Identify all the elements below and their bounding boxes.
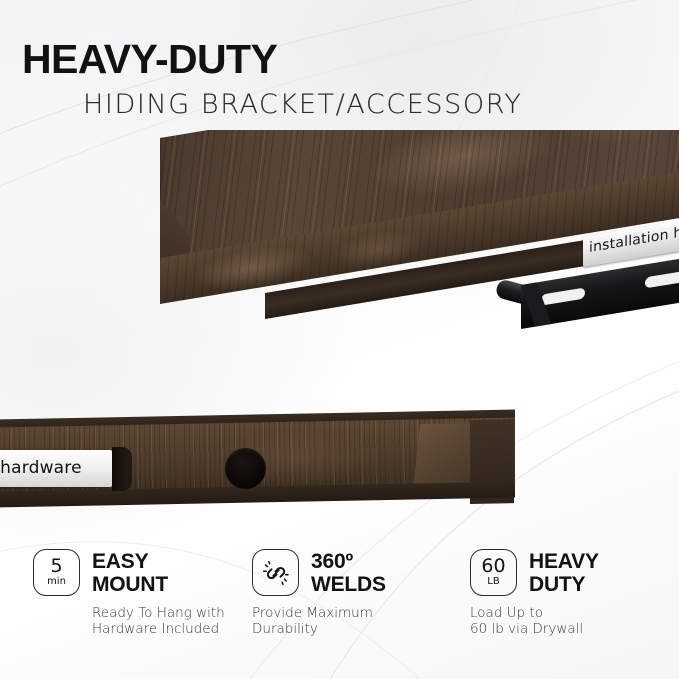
badge-unit: LB [487, 576, 499, 588]
feature-text: EASY MOUNT Ready To Hang with Hardware I… [92, 549, 225, 637]
bracket-slot [541, 287, 585, 305]
label-bottom-text: ion hardware [0, 458, 82, 478]
badge-unit: min [47, 576, 66, 588]
feature-description: Provide Maximum Durability [252, 605, 386, 637]
timer-badge-icon: 5 min [33, 549, 80, 596]
headline-block: HEAVY-DUTY HIDING BRACKET/ACCESSORY [0, 36, 679, 121]
product-marketing-image: HEAVY-DUTY HIDING BRACKET/ACCESSORY inst… [0, 0, 679, 679]
feature-title: EASY MOUNT [92, 550, 225, 596]
badge-value: 60 [481, 557, 505, 576]
feature-360-welds: 360º WELDS Provide Maximum Durability [252, 549, 462, 637]
feature-title: HEAVY DUTY [529, 550, 599, 596]
feature-heavy-duty: 60 LB HEAVY DUTY Load Up to 60 lb via Dr… [470, 549, 675, 637]
feature-easy-mount: 5 min EASY MOUNT Ready To Hang with Hard… [33, 549, 248, 637]
badge-value: 5 [50, 557, 62, 576]
weight-badge-icon: 60 LB [470, 549, 517, 596]
product-photo-shelf-with-bracket [0, 130, 679, 375]
bracket-slot [645, 270, 679, 288]
page-subtitle: HIDING BRACKET/ACCESSORY [0, 89, 679, 121]
feature-title: 360º WELDS [311, 550, 386, 596]
mounting-hole [225, 448, 266, 489]
feature-text: HEAVY DUTY Load Up to 60 lb via Drywall [529, 549, 599, 637]
page-title: HEAVY-DUTY [0, 36, 679, 83]
feature-description: Load Up to 60 lb via Drywall [470, 605, 599, 637]
feature-description: Ready To Hang with Hardware Included [92, 605, 225, 637]
feature-text: 360º WELDS Provide Maximum Durability [311, 549, 386, 637]
installation-hardware-label-bottom: ion hardware [0, 450, 112, 487]
label-recess-slot [112, 447, 132, 491]
weld-chain-link-icon [252, 549, 299, 596]
feature-row: 5 min EASY MOUNT Ready To Hang with Hard… [0, 549, 679, 669]
